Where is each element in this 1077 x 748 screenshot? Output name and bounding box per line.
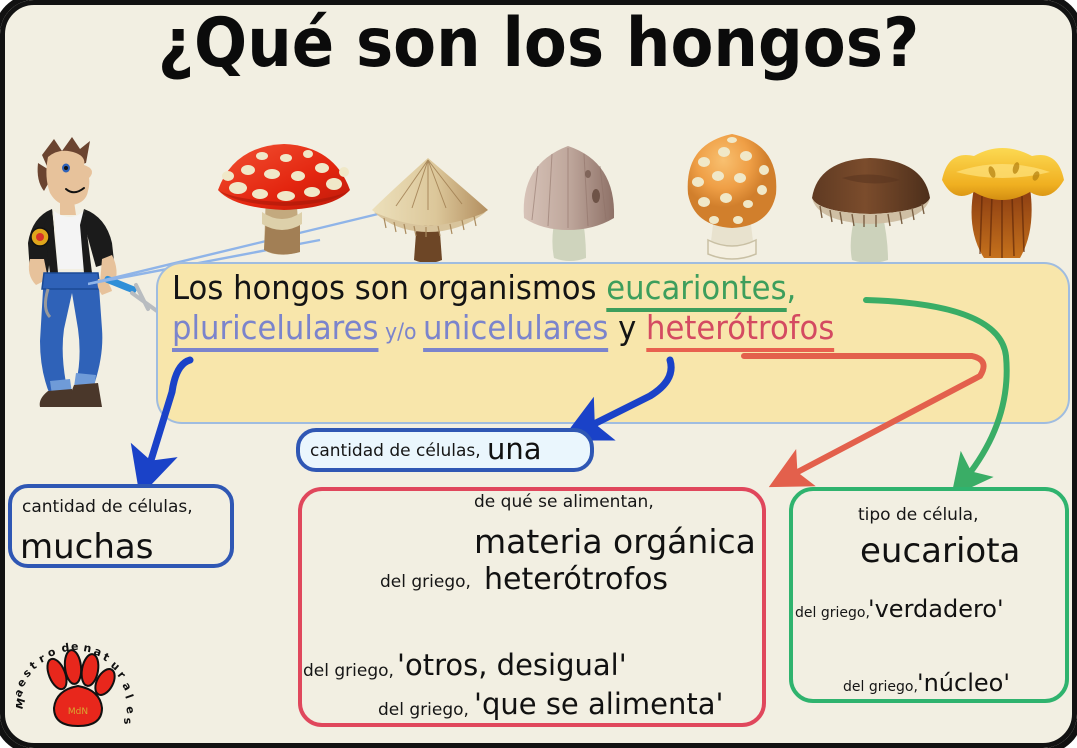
mushroom-brown-portobello	[808, 150, 934, 264]
svg-text:o: o	[46, 645, 58, 660]
definition-line1-plain: Los hongos son organismos	[172, 268, 606, 307]
svg-text:l: l	[122, 693, 136, 701]
svg-text:MdN: MdN	[68, 707, 88, 717]
definition-comma: ,	[787, 268, 797, 307]
label-del-griego-otros: del griego,	[303, 661, 394, 681]
label-del-griego-heterotrofos: del griego,	[380, 572, 471, 592]
infographic-page: ¿Qué son los hongos?	[0, 0, 1077, 748]
value-que-se-alimenta: 'que se alimenta'	[474, 687, 723, 721]
value-eucariota: eucariota	[860, 531, 1020, 571]
term-heterotrofos: heterótrofos	[646, 308, 834, 352]
svg-text:a: a	[119, 680, 134, 693]
label-del-griego-que-se-alimenta: del griego,	[378, 700, 469, 720]
mushroom-red-fly-agaric	[214, 132, 354, 262]
term-eucariontes: eucariontes	[606, 268, 786, 312]
definition-text: Los hongos son organismos eucariontes, p…	[172, 268, 1009, 349]
page-title: ¿Qué son los hongos?	[43, 8, 1034, 79]
value-nucleo: 'núcleo'	[917, 669, 1010, 697]
value-otros-desigual: 'otros, desigual'	[397, 648, 627, 682]
value-verdadero: 'verdadero'	[868, 595, 1004, 623]
svg-text:d: d	[61, 641, 71, 655]
mushroom-tan-parasol	[370, 152, 492, 264]
value-greek-heterotrofos: heterótrofos	[484, 562, 668, 597]
mushroom-grey-bell-cap	[518, 140, 622, 262]
term-yo: y/o	[378, 320, 423, 345]
svg-text:e: e	[123, 705, 136, 715]
logo-maestro-de-naturales: MdN M a e s t r o d e n a t u r a l e s	[16, 626, 136, 734]
svg-text:s: s	[121, 717, 134, 725]
label-una: cantidad de células,	[310, 441, 481, 461]
svg-text:n: n	[82, 641, 92, 655]
label-muchas: cantidad de células,	[22, 497, 193, 517]
svg-text:r: r	[115, 669, 129, 682]
label-de-que-se-alimentan: de qué se alimentan,	[474, 492, 654, 512]
definition-conjunction: y	[608, 308, 646, 347]
term-unicelulares: unicelulares	[423, 308, 608, 352]
svg-text:r: r	[37, 651, 48, 665]
mushroom-golden-chanterelle	[940, 138, 1066, 262]
svg-text:t: t	[27, 659, 39, 673]
svg-text:e: e	[71, 640, 78, 653]
label-del-griego-verdadero: del griego,	[795, 605, 870, 621]
svg-text:a: a	[92, 645, 103, 660]
value-materia-organica: materia orgánica	[474, 522, 756, 561]
svg-text:t: t	[101, 650, 112, 664]
mushroom-orange-fly-agaric	[680, 128, 786, 264]
label-del-griego-nucleo: del griego,	[843, 679, 918, 695]
value-muchas: muchas	[20, 527, 153, 567]
label-tipo-de-celula: tipo de célula,	[858, 505, 979, 525]
value-una: una	[487, 432, 542, 466]
term-pluricelulares: pluricelulares	[172, 308, 378, 352]
